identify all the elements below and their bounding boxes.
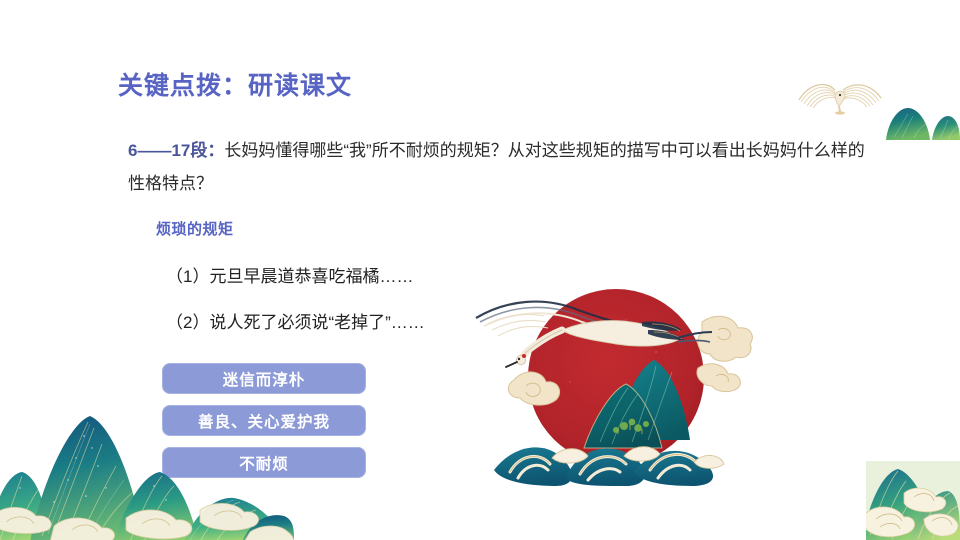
list-item: （2）说人死了必须说“老掉了”…… [166, 308, 425, 333]
small-mountains-icon [886, 104, 960, 140]
crane-sun-mountain-wave-illustration [466, 272, 756, 490]
page-title: 关键点拨：研读课文 [118, 66, 352, 102]
section-subheading: 烦琐的规矩 [156, 218, 234, 239]
answer-box[interactable]: 迷信而淳朴 [162, 363, 366, 394]
slide-canvas: 关键点拨：研读课文 6——17段：长妈妈懂得哪些“我”所不耐烦的规矩？从对这些规… [0, 0, 960, 540]
flying-crane-icon [795, 78, 885, 118]
list-item: （1）元旦早晨道恭喜吃福橘…… [166, 262, 413, 287]
question-text: 长妈妈懂得哪些“我”所不耐烦的规矩？从对这些规矩的描写中可以看出长妈妈什么样的性… [128, 141, 865, 193]
question-range-label: 6——17段： [128, 141, 224, 160]
landscape-corner-swatch-icon [866, 461, 960, 540]
question-paragraph: 6——17段：长妈妈懂得哪些“我”所不耐烦的规矩？从对这些规矩的描写中可以看出长… [128, 134, 868, 200]
ink-mountain-landscape-icon [0, 396, 294, 540]
